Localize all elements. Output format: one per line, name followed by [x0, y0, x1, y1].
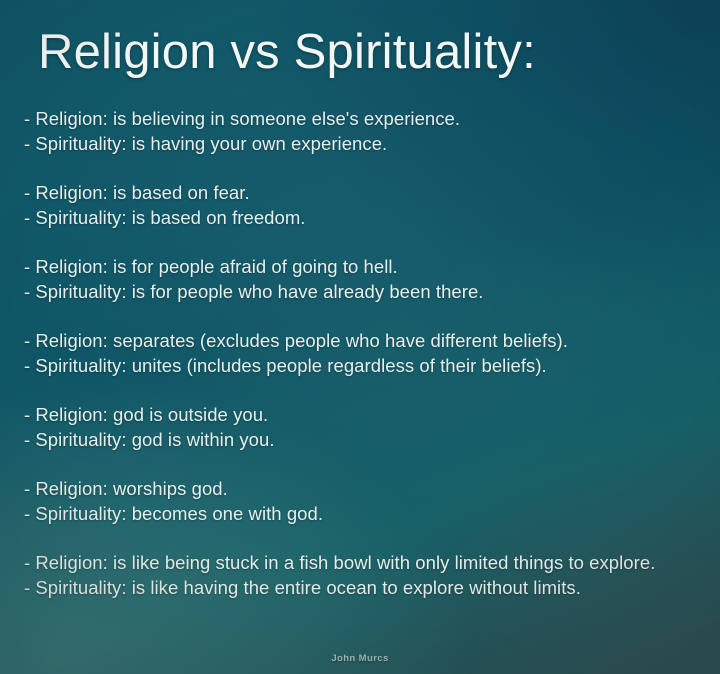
comparison-list: - Religion: is believing in someone else…	[24, 106, 696, 600]
attribution-credit: John Murcs	[0, 653, 720, 664]
poster-canvas: Religion vs Spirituality: - Religion: is…	[0, 0, 720, 674]
religion-line: - Religion: worships god.	[24, 476, 696, 501]
comparison-block: - Religion: is based on fear. - Spiritua…	[24, 180, 696, 230]
religion-line: - Religion: is believing in someone else…	[24, 106, 696, 131]
comparison-block: - Religion: separates (excludes people w…	[24, 328, 696, 378]
comparison-block: - Religion: is for people afraid of goin…	[24, 254, 696, 304]
spirituality-line: - Spirituality: becomes one with god.	[24, 501, 696, 526]
comparison-block: - Religion: god is outside you. - Spirit…	[24, 402, 696, 452]
comparison-block: - Religion: is like being stuck in a fis…	[24, 550, 696, 600]
religion-line: - Religion: separates (excludes people w…	[24, 328, 696, 353]
spirituality-line: - Spirituality: unites (includes people …	[24, 353, 696, 378]
religion-line: - Religion: is based on fear.	[24, 180, 696, 205]
religion-line: - Religion: is like being stuck in a fis…	[24, 550, 696, 575]
religion-line: - Religion: god is outside you.	[24, 402, 696, 427]
spirituality-line: - Spirituality: is based on freedom.	[24, 205, 696, 230]
comparison-block: - Religion: worships god. - Spirituality…	[24, 476, 696, 526]
spirituality-line: - Spirituality: is having your own exper…	[24, 131, 696, 156]
spirituality-line: - Spirituality: is for people who have a…	[24, 279, 696, 304]
spirituality-line: - Spirituality: is like having the entir…	[24, 575, 696, 600]
religion-line: - Religion: is for people afraid of goin…	[24, 254, 696, 279]
comparison-block: - Religion: is believing in someone else…	[24, 106, 696, 156]
spirituality-line: - Spirituality: god is within you.	[24, 427, 696, 452]
page-title: Religion vs Spirituality:	[38, 24, 536, 80]
